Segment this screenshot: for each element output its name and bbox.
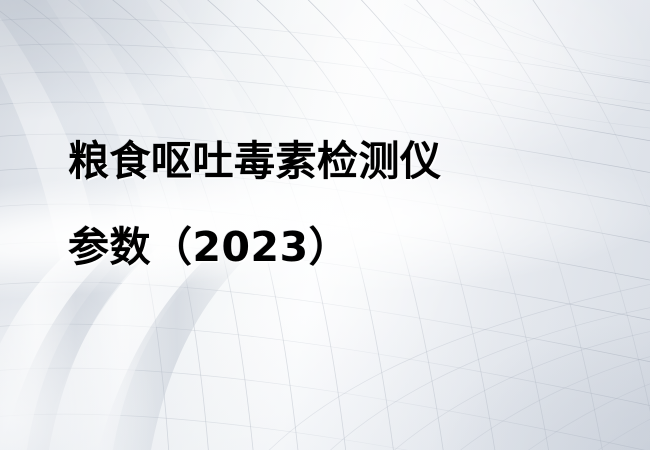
banner-image: 粮食呕吐毒素检测仪 参数（2023）	[0, 0, 650, 450]
title-block: 粮食呕吐毒素检测仪 参数（2023）	[68, 118, 608, 290]
title-line-1: 粮食呕吐毒素检测仪	[68, 118, 608, 204]
title-line-2: 参数（2023）	[68, 204, 608, 290]
